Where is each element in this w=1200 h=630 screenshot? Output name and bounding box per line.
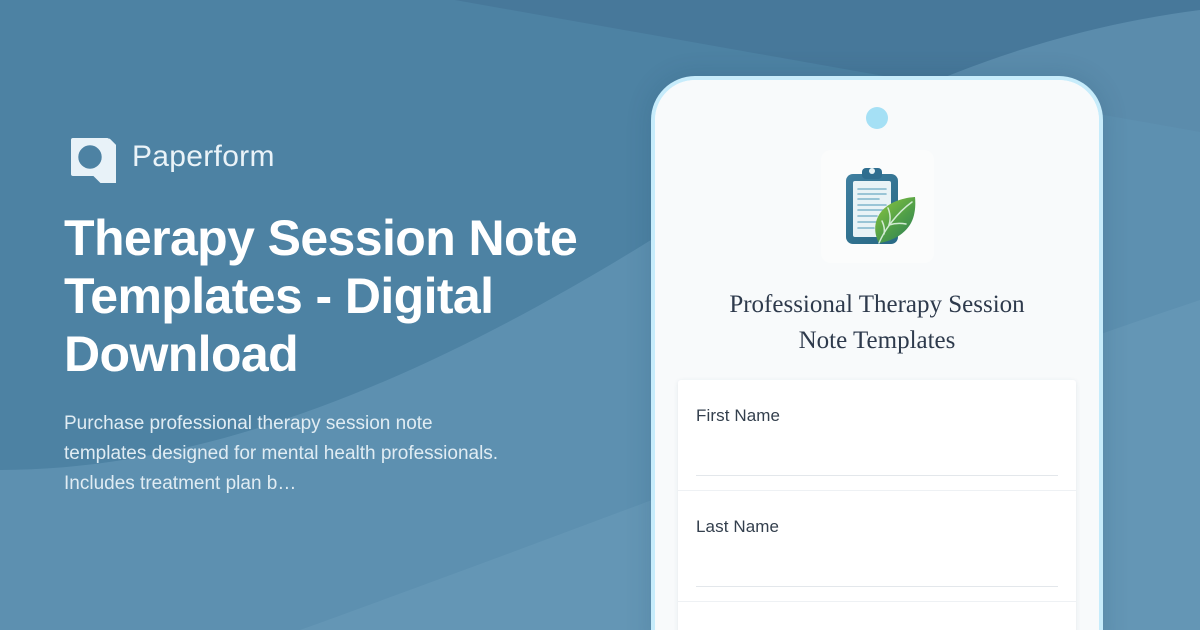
page-description: Purchase professional therapy session no… bbox=[64, 409, 509, 499]
hero-content: Paperform Therapy Session Note Templates… bbox=[64, 0, 624, 630]
brand-lockup: Paperform bbox=[64, 131, 624, 183]
phone-mockup: Professional Therapy Session Note Templa… bbox=[651, 76, 1103, 630]
form-field-last-name[interactable]: Last Name bbox=[678, 491, 1076, 602]
field-underline bbox=[696, 475, 1058, 476]
form-logo-tile bbox=[821, 150, 934, 263]
field-label-last-name: Last Name bbox=[696, 517, 1058, 537]
paperform-star-logo-icon bbox=[64, 131, 116, 183]
brand-name: Paperform bbox=[132, 142, 275, 172]
social-share-card: Paperform Therapy Session Note Templates… bbox=[0, 0, 1200, 630]
form-field-first-name[interactable]: First Name bbox=[678, 380, 1076, 491]
form-heading: Professional Therapy Session Note Templa… bbox=[702, 287, 1052, 358]
form-field-next[interactable] bbox=[678, 602, 1076, 630]
page-title: Therapy Session Note Templates - Digital… bbox=[64, 209, 594, 383]
field-underline bbox=[696, 586, 1058, 587]
clipboard-leaf-icon bbox=[827, 157, 927, 257]
field-label-first-name: First Name bbox=[696, 406, 1058, 426]
camera-dot-icon bbox=[866, 107, 888, 129]
form-card: First Name Last Name bbox=[678, 380, 1076, 630]
phone-screen: Professional Therapy Session Note Templa… bbox=[655, 80, 1099, 630]
